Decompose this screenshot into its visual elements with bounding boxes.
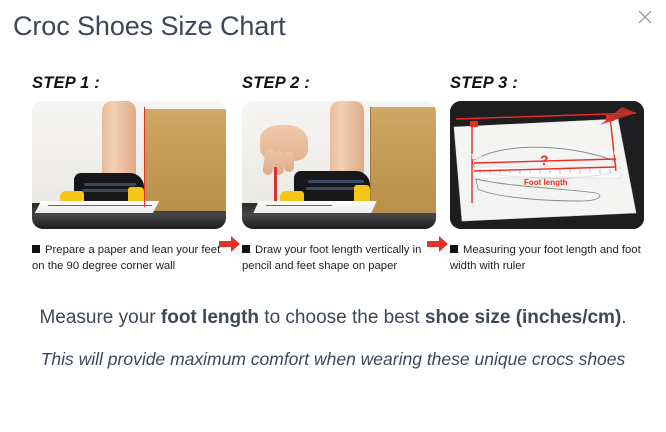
step-1-label: STEP 1 : [32, 74, 235, 94]
bullet-square-icon [32, 245, 40, 253]
finger [284, 151, 294, 172]
question-mark-label: ? [540, 152, 549, 168]
tagline-part-1: Measure your [39, 307, 160, 328]
step-1-caption-text: Prepare a paper and lean your feet on th… [32, 244, 220, 272]
tagline-bold-shoe-size: shoe size (inches/cm) [425, 307, 621, 328]
step-2-label: STEP 2 : [242, 74, 445, 94]
steps-row: STEP 1 : Prepare a paper and lean your f… [0, 74, 666, 294]
modal-header: Croc Shoes Size Chart [0, 0, 666, 62]
cardboard-box [370, 107, 436, 213]
red-guide-line [266, 205, 333, 206]
toe-label: Toe [470, 152, 482, 161]
step-3-photo: Toe Heel ? Foot length [450, 101, 644, 229]
close-icon [637, 9, 653, 25]
leg [330, 101, 364, 175]
sock-band [308, 180, 364, 183]
step-1-caption: Prepare a paper and lean your feet on th… [32, 243, 228, 274]
bullet-square-icon [242, 245, 250, 253]
tagline-part-3: . [621, 307, 626, 328]
paper-sheet [253, 201, 376, 213]
pencil [274, 167, 277, 205]
red-vertical-line [144, 107, 145, 207]
foot-length-label: Foot length [524, 178, 568, 187]
bullet-square-icon [450, 245, 458, 253]
leg [102, 101, 136, 179]
step-1-photo [32, 101, 226, 229]
foot-measure-diagram: Toe Heel ? Foot length [450, 101, 644, 229]
step-2: STEP 2 : Draw your foot length verticall… [238, 74, 445, 274]
step-2-caption-text: Draw your foot length vertically in penc… [242, 244, 421, 272]
step-2-photo [242, 101, 436, 229]
step-3-caption: Measuring your foot length and foot widt… [450, 243, 646, 274]
red-guide-line [48, 205, 153, 206]
step-1: STEP 1 : Prepare a paper and lean your f… [28, 74, 235, 274]
step-3-label: STEP 3 : [450, 74, 653, 94]
close-button[interactable] [632, 4, 658, 30]
page-title: Croc Shoes Size Chart [13, 11, 286, 42]
step-3: STEP 3 : [446, 74, 653, 274]
subnote: This will provide maximum comfort when w… [0, 345, 666, 374]
tagline-part-2: to choose the best [259, 307, 425, 328]
tagline-bold-foot-length: foot length [161, 307, 259, 328]
paper-sheet [35, 201, 159, 213]
tagline: Measure your foot length to choose the b… [0, 305, 666, 331]
heel-label: Heel [600, 148, 616, 157]
step-2-caption: Draw your foot length vertically in penc… [242, 243, 438, 274]
sock-band [84, 183, 136, 186]
cardboard-box [144, 109, 226, 211]
step-3-caption-text: Measuring your foot length and foot widt… [450, 244, 641, 272]
